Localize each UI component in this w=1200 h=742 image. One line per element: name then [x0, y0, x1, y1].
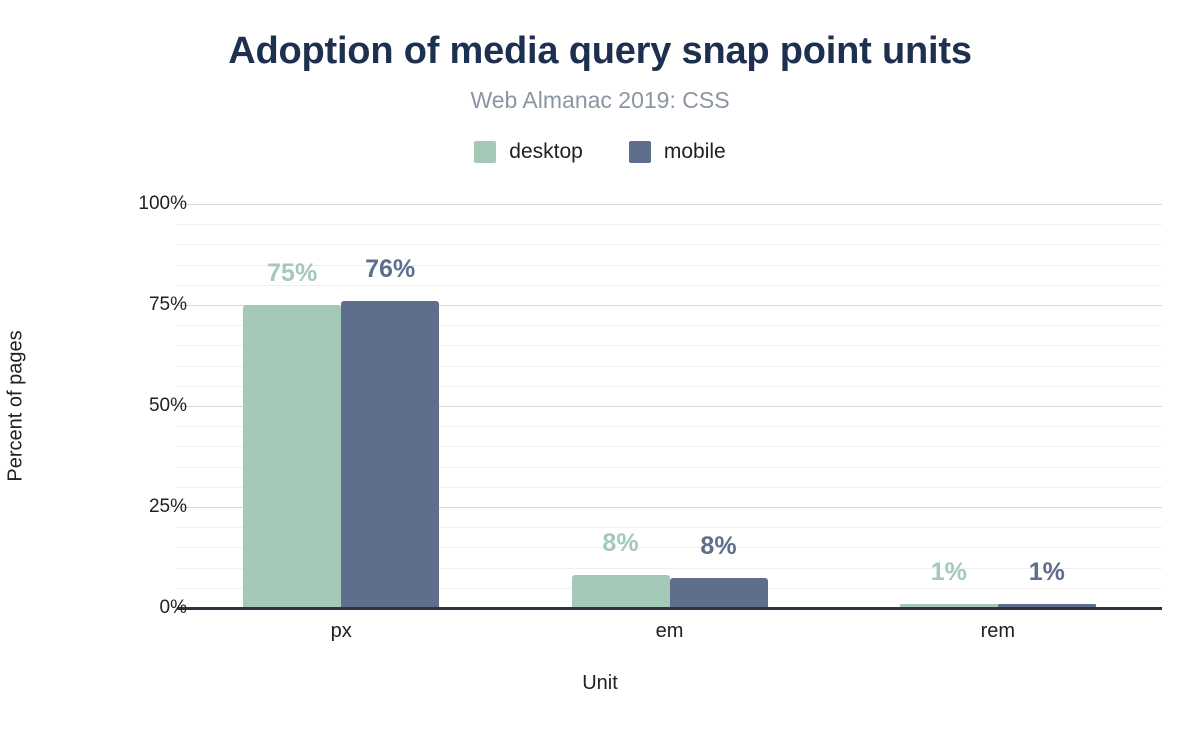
plot-area [177, 204, 1162, 608]
chart-container: Adoption of media query snap point units… [0, 0, 1200, 742]
legend-label-desktop: desktop [509, 140, 583, 164]
bar-em-desktop[interactable] [572, 575, 670, 608]
legend-item-mobile[interactable]: mobile [629, 140, 726, 164]
gridline-minor [177, 285, 1162, 286]
x-axis-tick-label-em: em [656, 620, 684, 643]
x-axis-title: Unit [0, 672, 1200, 695]
bar-value-label-em-mobile: 8% [700, 532, 736, 561]
y-axis-tick-label: 50% [97, 395, 187, 417]
y-axis-tick-label: 0% [97, 597, 187, 619]
y-axis-title: Percent of pages [5, 330, 28, 481]
bar-px-desktop[interactable] [243, 305, 341, 608]
gridline-major [177, 204, 1162, 205]
chart-subtitle: Web Almanac 2019: CSS [0, 87, 1200, 114]
bar-value-label-px-mobile: 76% [365, 255, 415, 284]
bar-value-label-em-desktop: 8% [602, 529, 638, 558]
y-axis-tick-label: 100% [97, 193, 187, 215]
legend-swatch-mobile [629, 141, 651, 163]
x-axis-line [177, 607, 1162, 610]
y-axis-tick-label: 75% [97, 294, 187, 316]
chart-legend: desktop mobile [0, 140, 1200, 164]
bar-value-label-px-desktop: 75% [267, 259, 317, 288]
legend-item-desktop[interactable]: desktop [474, 140, 583, 164]
bar-value-label-rem-desktop: 1% [931, 558, 967, 587]
legend-label-mobile: mobile [664, 140, 726, 164]
gridline-minor [177, 265, 1162, 266]
x-axis-tick-label-rem: rem [981, 620, 1015, 643]
gridline-minor [177, 244, 1162, 245]
chart-title: Adoption of media query snap point units [0, 30, 1200, 74]
bar-em-mobile[interactable] [670, 578, 768, 608]
y-axis-tick-label: 25% [97, 496, 187, 518]
bar-px-mobile[interactable] [341, 301, 439, 608]
bar-value-label-rem-mobile: 1% [1029, 558, 1065, 587]
gridline-minor [177, 224, 1162, 225]
x-axis-tick-label-px: px [331, 620, 352, 643]
legend-swatch-desktop [474, 141, 496, 163]
